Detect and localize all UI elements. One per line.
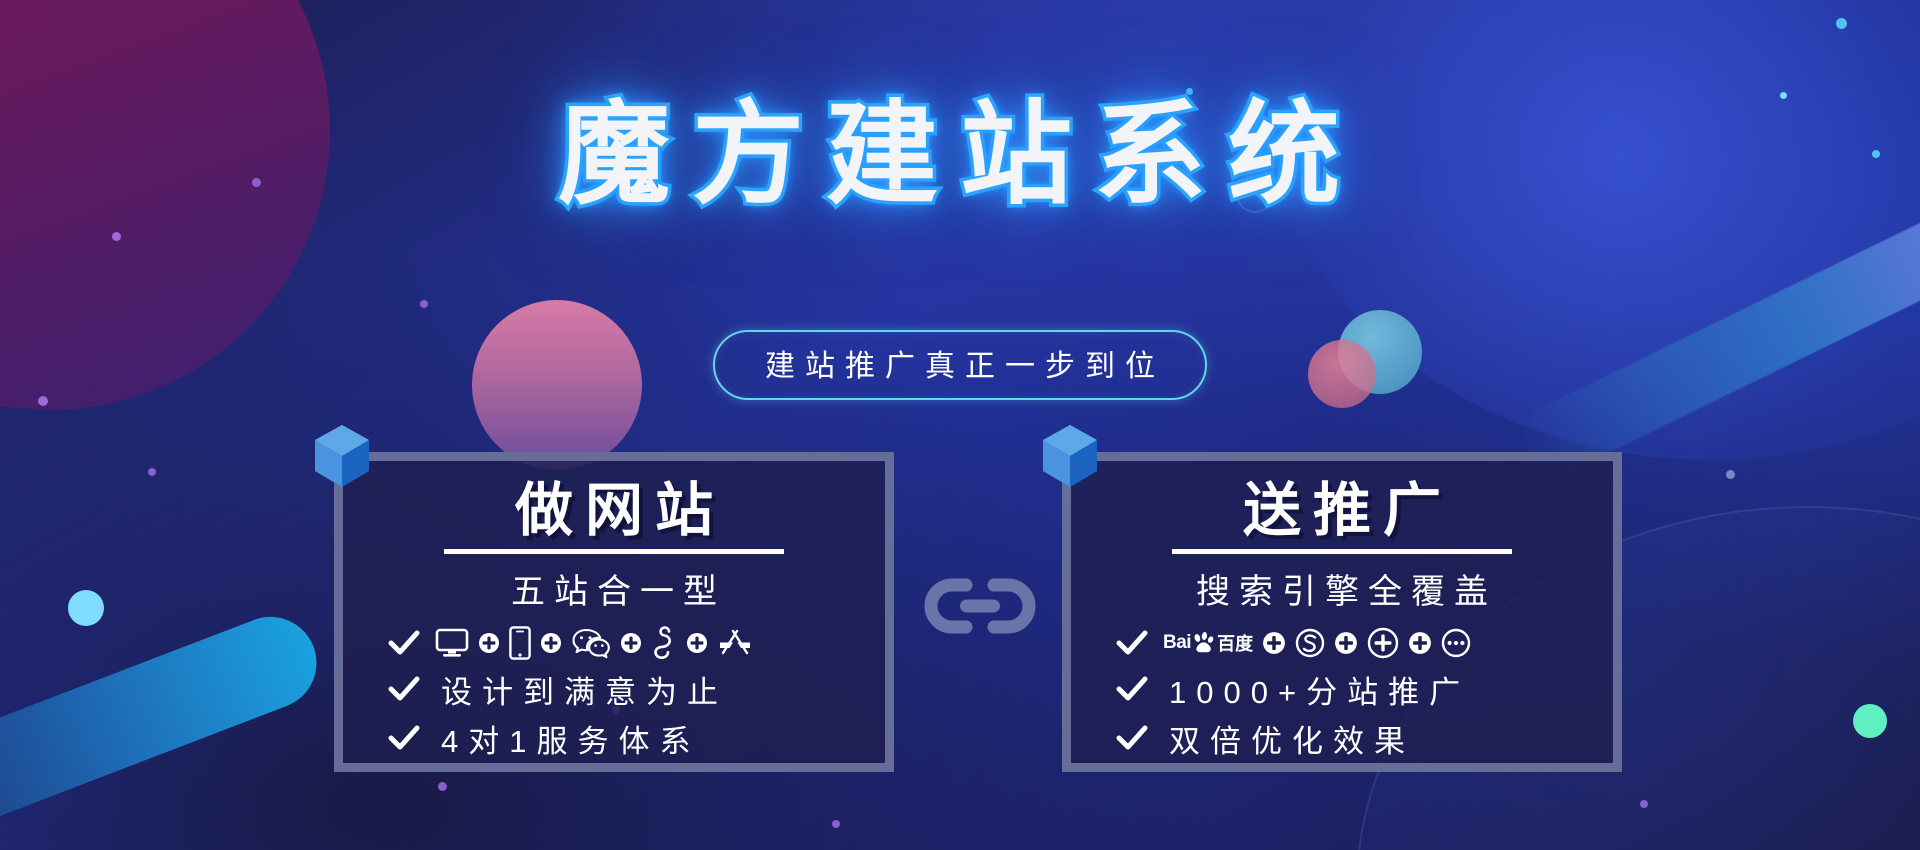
- decor-dot: [438, 782, 447, 791]
- decor-dot: [148, 468, 156, 476]
- check-icon: [387, 721, 421, 755]
- decor-dot: [1726, 470, 1735, 479]
- monitor-icon: [435, 628, 469, 658]
- check-icon: [387, 672, 421, 706]
- plus-icon: [1334, 631, 1358, 655]
- card-make-website[interactable]: 做网站 五站合一型: [334, 452, 894, 772]
- card-body: 送推广 搜索引擎全覆盖 Bai: [1071, 461, 1613, 763]
- decor-dot: [832, 820, 840, 828]
- card-subtitle: 搜索引擎全覆盖: [1093, 564, 1591, 613]
- subtitle-container: 建站推广真正一步到位: [0, 330, 1920, 400]
- feature-row-design: 设计到满意为止: [365, 667, 863, 712]
- decor-dot: [1836, 18, 1847, 29]
- plus-icon: [540, 632, 562, 654]
- check-icon: [1115, 721, 1149, 755]
- title-underline: [1172, 549, 1512, 554]
- plus-icon: [620, 632, 642, 654]
- decor-bottom-left-streak: [0, 603, 330, 850]
- baidu-logo: Bai 百度: [1163, 630, 1253, 656]
- subtitle-badge: 建站推广真正一步到位: [713, 330, 1207, 400]
- plus-icon: [1262, 631, 1286, 655]
- card-title: 送推广: [1093, 479, 1591, 543]
- wechat-icon: [571, 627, 611, 659]
- feature-label: 1000+分站推广: [1163, 667, 1470, 712]
- plus-icon: [686, 632, 708, 654]
- decor-dot: [1640, 800, 1648, 808]
- baidu-latin-text: Bai: [1163, 632, 1191, 654]
- more-ellipsis-icon: [1441, 628, 1471, 658]
- search-engine-icon-list: Bai 百度: [1163, 627, 1471, 659]
- sogou-icon: [1295, 628, 1325, 658]
- feature-row-platforms: [365, 623, 863, 663]
- banner-canvas: 魔方建站系统 建站推广真正一步到位 做网站 五站合一型: [0, 0, 1920, 850]
- decor-cyan-circle: [68, 590, 104, 626]
- feature-label: 设计到满意为止: [435, 667, 728, 712]
- check-icon: [1115, 672, 1149, 706]
- card-title: 做网站: [365, 479, 863, 543]
- 360-search-icon: [1367, 627, 1399, 659]
- check-icon: [387, 626, 421, 660]
- feature-row-substations: 1000+分站推广: [1093, 667, 1591, 712]
- app-store-icon: [717, 627, 753, 659]
- mobile-phone-icon: [509, 626, 531, 660]
- card-free-promotion[interactable]: 送推广 搜索引擎全覆盖 Bai: [1062, 452, 1622, 772]
- chain-link-icon: [922, 575, 1038, 637]
- qq-icon: [651, 626, 677, 660]
- card-subtitle: 五站合一型: [365, 564, 863, 613]
- title-underline: [444, 549, 784, 554]
- decor-mint-circle: [1853, 704, 1887, 738]
- decor-dot: [420, 300, 428, 308]
- card-body: 做网站 五站合一型: [343, 461, 885, 763]
- feature-row-double-effect: 双倍优化效果: [1093, 716, 1591, 761]
- feature-row-service: 4对1服务体系: [365, 716, 863, 761]
- plus-icon: [1408, 631, 1432, 655]
- feature-label: 4对1服务体系: [435, 716, 700, 761]
- check-icon: [1115, 626, 1149, 660]
- plus-icon: [478, 632, 500, 654]
- baidu-chinese-text: 百度: [1217, 630, 1253, 656]
- feature-label: 双倍优化效果: [1163, 716, 1415, 761]
- decor-dot: [112, 232, 121, 241]
- feature-row-search-engines: Bai 百度: [1093, 623, 1591, 663]
- page-title: 魔方建站系统: [558, 96, 1362, 215]
- baidu-paw-icon: [1192, 631, 1216, 655]
- headline-container: 魔方建站系统: [0, 96, 1920, 215]
- platform-icon-list: [435, 626, 753, 660]
